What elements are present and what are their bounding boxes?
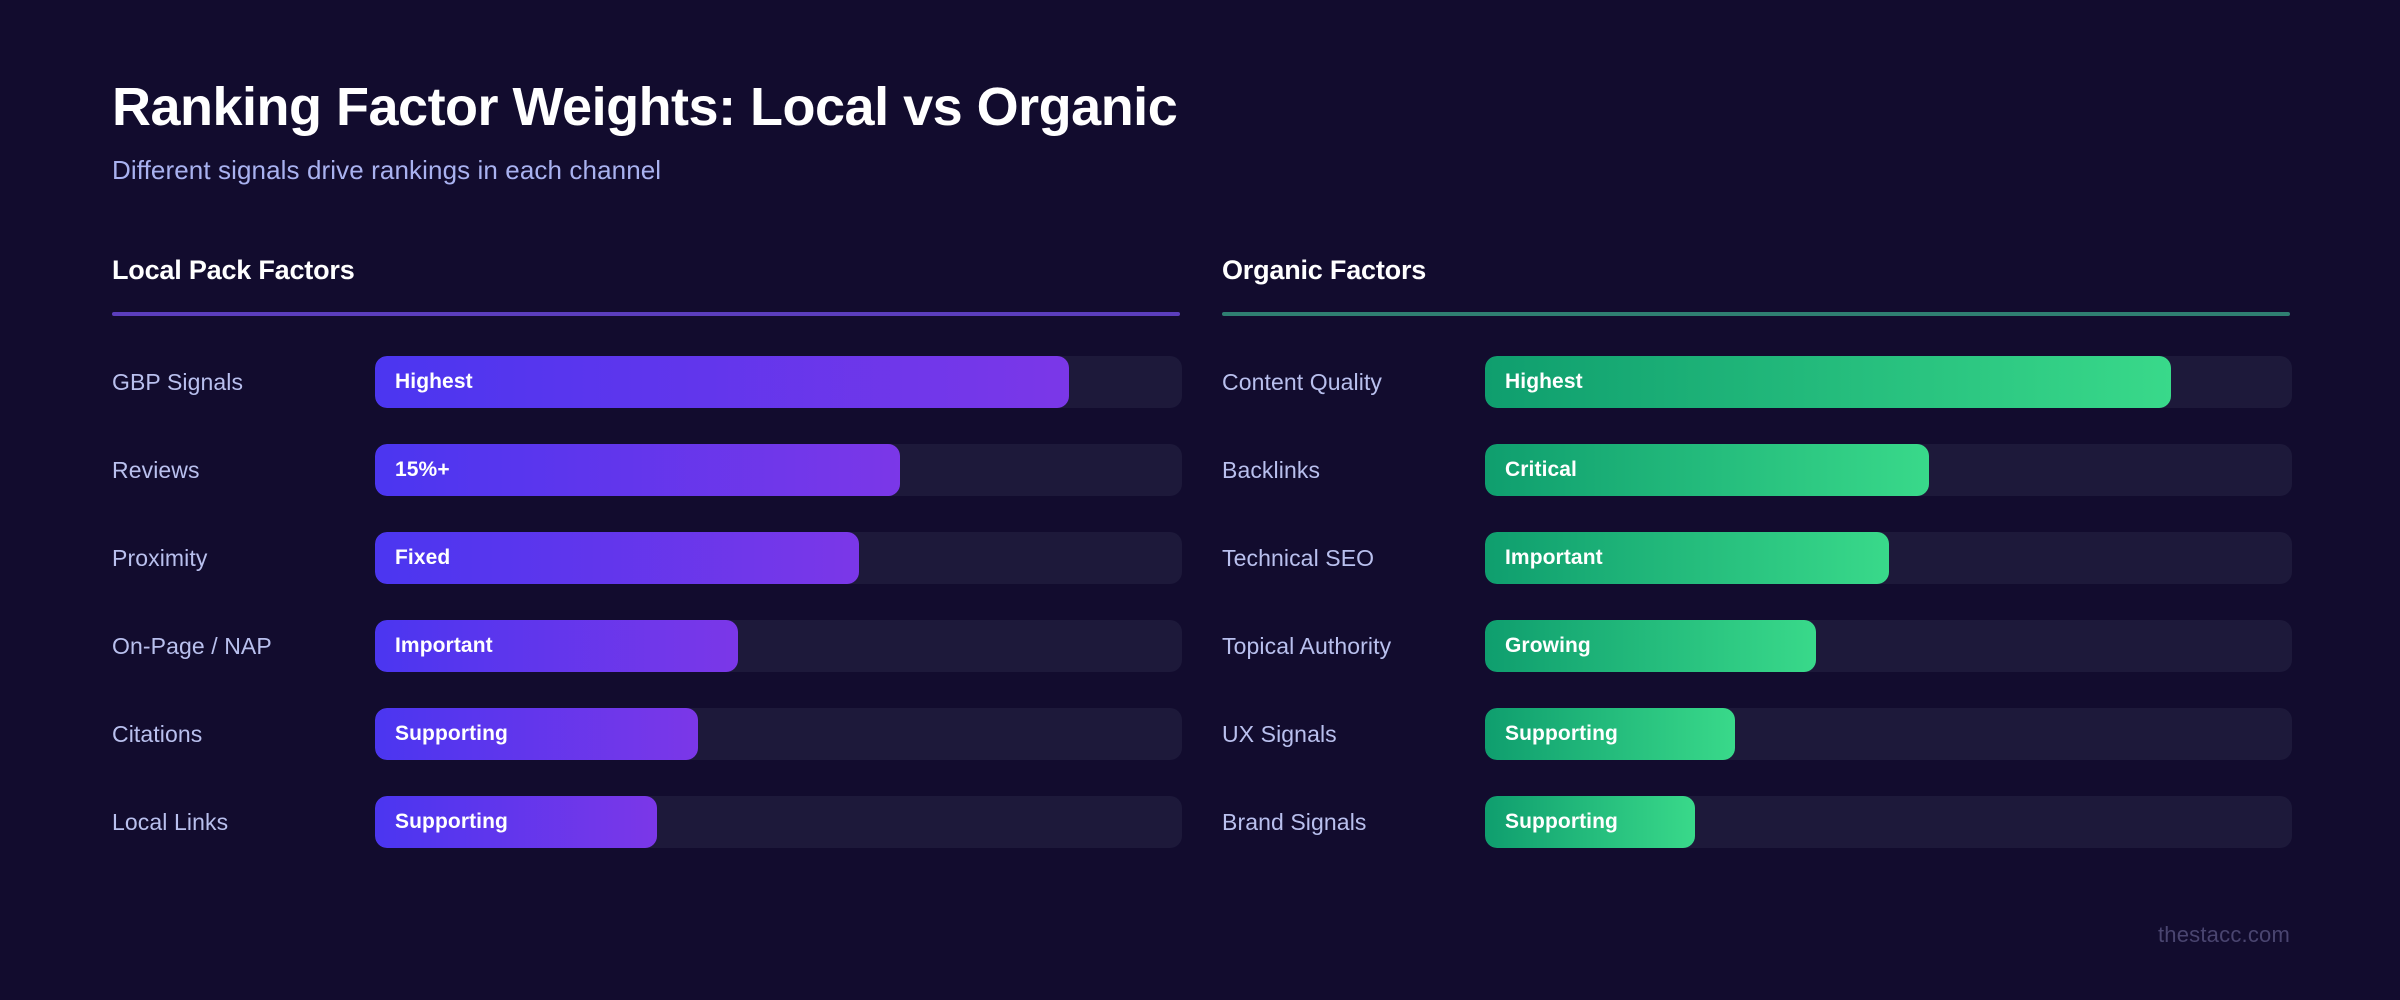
bar-fill: Critical <box>1485 444 1929 496</box>
table-row: UX Signals Supporting <box>1222 708 2292 760</box>
table-row: Local Links Supporting <box>112 796 1182 848</box>
bar-track: Supporting <box>1485 708 2292 760</box>
bar-fill: Supporting <box>1485 796 1695 848</box>
local-pack-divider <box>112 312 1180 316</box>
factor-label: On-Page / NAP <box>112 633 375 660</box>
factor-label: UX Signals <box>1222 721 1485 748</box>
bar-value-label: Highest <box>395 370 473 394</box>
bar-value-label: Important <box>1505 546 1603 570</box>
bar-fill: Important <box>1485 532 1889 584</box>
bar-value-label: Critical <box>1505 458 1577 482</box>
local-pack-rows: GBP Signals Highest Reviews 15%+ <box>112 356 1182 848</box>
factor-label: Brand Signals <box>1222 809 1485 836</box>
table-row: Proximity Fixed <box>112 532 1182 584</box>
table-row: Citations Supporting <box>112 708 1182 760</box>
bar-value-label: Supporting <box>395 722 508 746</box>
bar-track: Supporting <box>375 708 1182 760</box>
bar-value-label: Supporting <box>395 810 508 834</box>
bar-track: Fixed <box>375 532 1182 584</box>
factor-label: Backlinks <box>1222 457 1485 484</box>
organic-rows: Content Quality Highest Backlinks Critic… <box>1222 356 2292 848</box>
factor-label: Content Quality <box>1222 369 1485 396</box>
table-row: Brand Signals Supporting <box>1222 796 2292 848</box>
bar-value-label: Growing <box>1505 634 1591 658</box>
table-row: On-Page / NAP Important <box>112 620 1182 672</box>
page-title: Ranking Factor Weights: Local vs Organic <box>112 78 1177 137</box>
table-row: Content Quality Highest <box>1222 356 2292 408</box>
page-header: Ranking Factor Weights: Local vs Organic… <box>112 78 1177 186</box>
bar-value-label: 15%+ <box>395 458 450 482</box>
watermark: thestacc.com <box>2158 922 2290 948</box>
factor-label: Reviews <box>112 457 375 484</box>
factor-label: Proximity <box>112 545 375 572</box>
bar-track: Supporting <box>1485 796 2292 848</box>
bar-fill: Supporting <box>375 796 657 848</box>
bar-fill: Fixed <box>375 532 859 584</box>
infographic-page: Ranking Factor Weights: Local vs Organic… <box>0 0 2400 1000</box>
bar-value-label: Highest <box>1505 370 1583 394</box>
bar-track: 15%+ <box>375 444 1182 496</box>
table-row: Topical Authority Growing <box>1222 620 2292 672</box>
table-row: Technical SEO Important <box>1222 532 2292 584</box>
bar-value-label: Supporting <box>1505 810 1618 834</box>
organic-heading: Organic Factors <box>1222 255 2292 286</box>
page-subtitle: Different signals drive rankings in each… <box>112 155 1177 186</box>
bar-value-label: Fixed <box>395 546 450 570</box>
comparison-columns: Local Pack Factors GBP Signals Highest R… <box>112 255 2292 848</box>
bar-track: Highest <box>1485 356 2292 408</box>
bar-track: Important <box>1485 532 2292 584</box>
bar-value-label: Supporting <box>1505 722 1618 746</box>
bar-track: Growing <box>1485 620 2292 672</box>
local-pack-heading: Local Pack Factors <box>112 255 1182 286</box>
bar-fill: Highest <box>375 356 1069 408</box>
bar-value-label: Important <box>395 634 493 658</box>
bar-track: Highest <box>375 356 1182 408</box>
bar-fill: Supporting <box>375 708 698 760</box>
organic-column: Organic Factors Content Quality Highest … <box>1222 255 2292 848</box>
bar-fill: Highest <box>1485 356 2171 408</box>
local-pack-column: Local Pack Factors GBP Signals Highest R… <box>112 255 1182 848</box>
factor-label: GBP Signals <box>112 369 375 396</box>
bar-fill: Important <box>375 620 738 672</box>
factor-label: Technical SEO <box>1222 545 1485 572</box>
organic-divider <box>1222 312 2290 316</box>
table-row: Backlinks Critical <box>1222 444 2292 496</box>
table-row: Reviews 15%+ <box>112 444 1182 496</box>
bar-track: Supporting <box>375 796 1182 848</box>
factor-label: Topical Authority <box>1222 633 1485 660</box>
factor-label: Citations <box>112 721 375 748</box>
bar-track: Important <box>375 620 1182 672</box>
factor-label: Local Links <box>112 809 375 836</box>
bar-fill: Supporting <box>1485 708 1735 760</box>
bar-track: Critical <box>1485 444 2292 496</box>
table-row: GBP Signals Highest <box>112 356 1182 408</box>
bar-fill: Growing <box>1485 620 1816 672</box>
bar-fill: 15%+ <box>375 444 900 496</box>
